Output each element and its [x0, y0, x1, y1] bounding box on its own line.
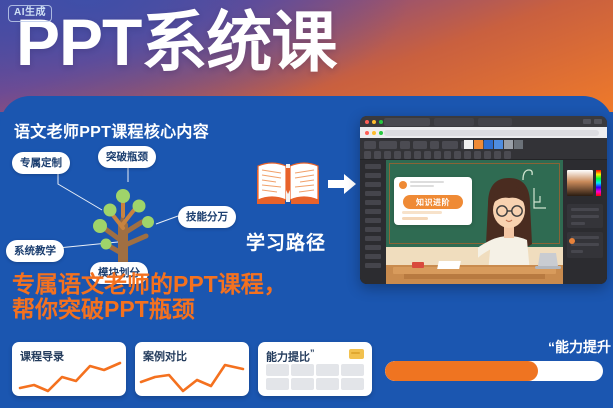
headline-line-1: 专属语文老师的PPT课程，: [12, 271, 287, 297]
desk-top: [393, 267, 556, 274]
address-field: [384, 130, 599, 136]
red-book-icon: [412, 262, 424, 268]
window-tab: [384, 118, 430, 126]
card-case-compare[interactable]: 案例对比: [135, 342, 249, 396]
card-title: 能力提比”: [266, 348, 315, 365]
tools-panel: [360, 160, 386, 284]
ai-generated-badge: AI生成: [8, 5, 52, 22]
minimize-icon: [372, 120, 376, 124]
open-book-icon: [252, 156, 358, 212]
card-title-text: 能力提比: [266, 352, 310, 364]
color-panel: [563, 160, 607, 284]
slide-card: 知识进阶: [394, 177, 472, 225]
card-ability-compare[interactable]: 能力提比”: [258, 342, 372, 396]
browser-traffic-lights: [365, 131, 383, 135]
progress-label: “能力提升: [548, 337, 611, 357]
card-course-index[interactable]: 课程导录: [12, 342, 126, 396]
app-window-illustration: 知识进阶: [360, 116, 607, 284]
browser-urlbar: [360, 127, 607, 138]
page-title: PPT系统课: [16, 6, 336, 78]
flag-icon: [349, 349, 364, 359]
headline-line-2: 帮你突破PPT瓶颈: [12, 297, 287, 322]
slide-logo-icon: [399, 181, 407, 189]
classroom-scene: 知识进阶: [386, 160, 563, 284]
book-arrow-block: [252, 156, 358, 217]
active-layer-dot: [569, 238, 575, 244]
close-icon: [365, 120, 369, 124]
tree-label-tupo-pingjing: 突破瓶颈: [98, 146, 156, 168]
progress-fill: [385, 361, 538, 381]
poster-root: AI生成 PPT系统课 语文老师PPT课程核心内容: [0, 0, 613, 408]
color-gradient-swatch: [567, 170, 593, 196]
line-chart-case-compare: [135, 360, 249, 394]
color-chips: [464, 140, 523, 149]
ability-grid: [266, 364, 364, 390]
laptop-icon: [535, 252, 561, 270]
bottom-cards: 课程导录 案例对比 能力提比”: [12, 342, 372, 396]
layers-panel: [567, 232, 603, 258]
headline: 专属语文老师的PPT课程， 帮你突破PPT瓶颈: [12, 272, 287, 322]
line-chart-course-index: [12, 360, 126, 394]
hue-strip: [596, 170, 601, 196]
learning-path-label: 学习路径: [246, 228, 326, 255]
tree-label-zhuanshu-dingzhi: 专属定制: [12, 152, 70, 174]
progress-track[interactable]: [385, 361, 603, 381]
tree-label-jineng-fenwan: 技能分万: [178, 206, 236, 228]
editor-toolbar: [360, 138, 607, 160]
traffic-lights: [365, 120, 383, 124]
quote-mark: ”: [310, 348, 315, 358]
window-tab: [434, 118, 474, 126]
maximize-icon: [379, 120, 383, 124]
window-tab: [478, 118, 512, 126]
desk-shadow: [404, 274, 546, 279]
tree-label-xitong-jiaoxue: 系统教学: [6, 240, 64, 262]
slide-badge: 知识进阶: [403, 195, 463, 209]
window-titlebar: [360, 116, 607, 127]
window-controls: [583, 119, 602, 124]
toolbar-row-2: [364, 151, 511, 159]
editor-main: 知识进阶: [360, 160, 607, 284]
arrow-right-icon: [328, 174, 356, 194]
tree-diagram: 专属定制 突破瓶颈 技能分万 系统教学 模块划分: [6, 138, 262, 266]
properties-panel: [567, 204, 603, 228]
paper-sheet: [437, 261, 461, 269]
